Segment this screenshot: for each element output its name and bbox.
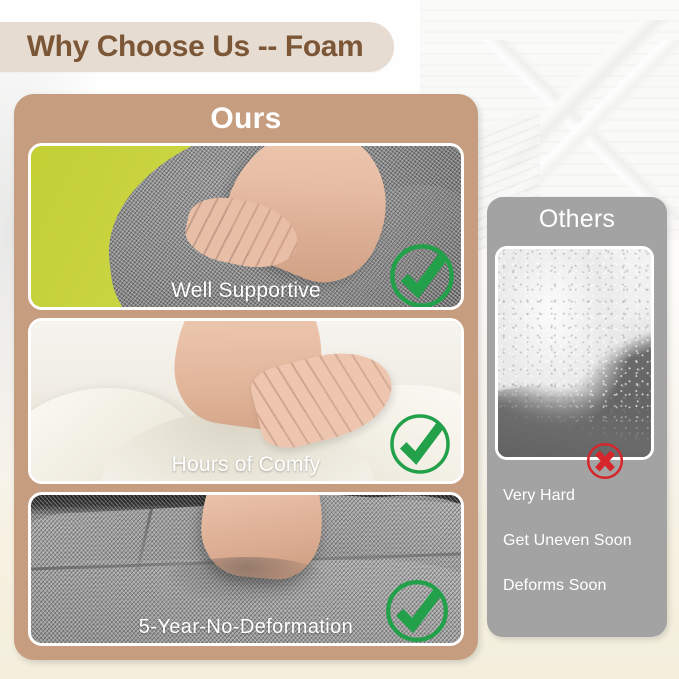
- list-item: Get Uneven Soon: [503, 532, 651, 550]
- ours-panel-title: Ours: [14, 102, 478, 136]
- title-banner: Why Choose Us -- Foam: [0, 22, 394, 72]
- ours-photo-card-2: Hours of Comfy: [28, 318, 464, 484]
- ours-photo-card-3: 5-Year-No-Deformation: [28, 492, 464, 646]
- others-panel: Others Very Hard Get Uneven Soon Deforms…: [487, 197, 667, 637]
- others-drawback-list: Very Hard Get Uneven Soon Deforms Soon: [487, 487, 667, 622]
- green-check-circle-icon: [385, 239, 459, 310]
- ours-photo-card-1: Well Supportive: [28, 143, 464, 310]
- green-check-circle-icon: [381, 575, 453, 646]
- list-item: Very Hard: [503, 487, 651, 505]
- others-foam-photo: [495, 246, 654, 460]
- infographic-canvas: Others Very Hard Get Uneven Soon Deforms…: [0, 0, 679, 679]
- list-item: Deforms Soon: [503, 577, 651, 595]
- ours-panel: Ours Well Supportive Ho: [14, 94, 478, 660]
- others-panel-title: Others: [487, 205, 667, 234]
- red-x-circle-icon: [584, 440, 626, 482]
- page-title: Why Choose Us -- Foam: [27, 30, 364, 64]
- green-check-circle-icon: [385, 409, 455, 479]
